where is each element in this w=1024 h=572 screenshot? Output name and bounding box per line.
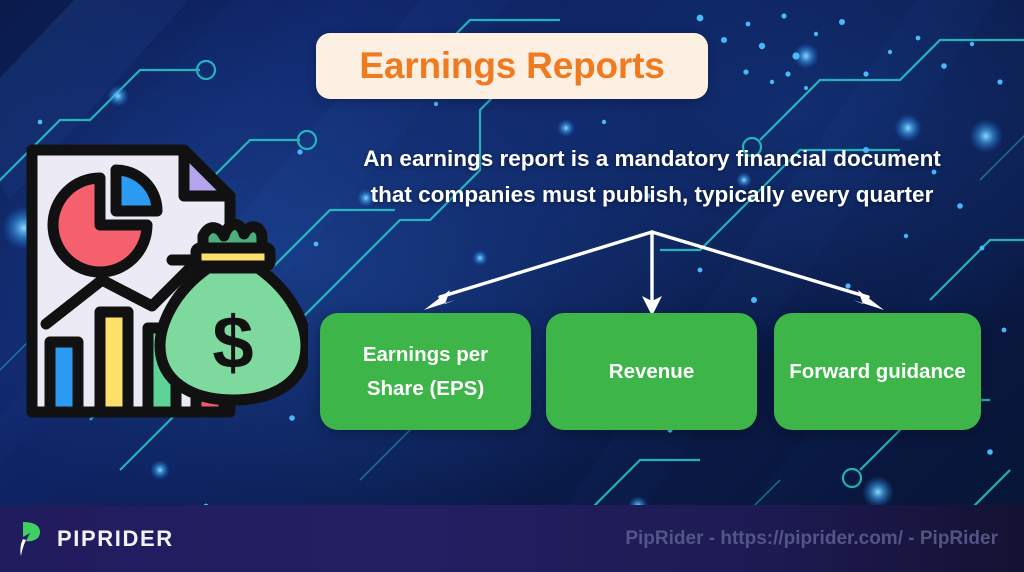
arrow-line-left xyxy=(440,232,652,297)
subtitle-line-2: that companies must publish, typically e… xyxy=(296,177,1008,213)
dollar-sign-icon: $ xyxy=(212,301,253,384)
bar-yellow xyxy=(100,312,128,412)
title-badge: Earnings Reports xyxy=(316,33,708,99)
bar-blue xyxy=(50,342,78,412)
footer-watermark: PipRider - https://piprider.com/ - PipRi… xyxy=(625,528,998,550)
pie-chart-icon xyxy=(53,170,157,272)
category-box-revenue[interactable]: Revenue xyxy=(546,313,757,430)
arrow-head-right xyxy=(853,290,884,310)
infographic-canvas: Earnings Reports An earnings report is a… xyxy=(0,0,1024,572)
subtitle-text: An earnings report is a mandatory financ… xyxy=(296,141,1008,214)
piprider-logo-icon xyxy=(14,520,48,558)
footer-brand-name: PIPRIDER xyxy=(57,526,174,552)
category-box-label: Forward guidance xyxy=(777,355,978,389)
financial-report-illustration: $ xyxy=(24,142,308,420)
page-title: Earnings Reports xyxy=(359,45,664,87)
category-box-forward-guidance[interactable]: Forward guidance xyxy=(774,313,981,430)
arrow-head-left xyxy=(424,290,455,310)
footer-brand[interactable]: PIPRIDER xyxy=(14,520,174,558)
category-box-label: Earnings per Share (EPS) xyxy=(320,338,531,406)
arrow-line-right xyxy=(652,232,868,297)
footer-bar: PIPRIDER PipRider - https://piprider.com… xyxy=(0,505,1024,572)
subtitle-line-1: An earnings report is a mandatory financ… xyxy=(296,141,1008,177)
category-box-label: Revenue xyxy=(597,355,706,389)
category-box-eps[interactable]: Earnings per Share (EPS) xyxy=(320,313,531,430)
